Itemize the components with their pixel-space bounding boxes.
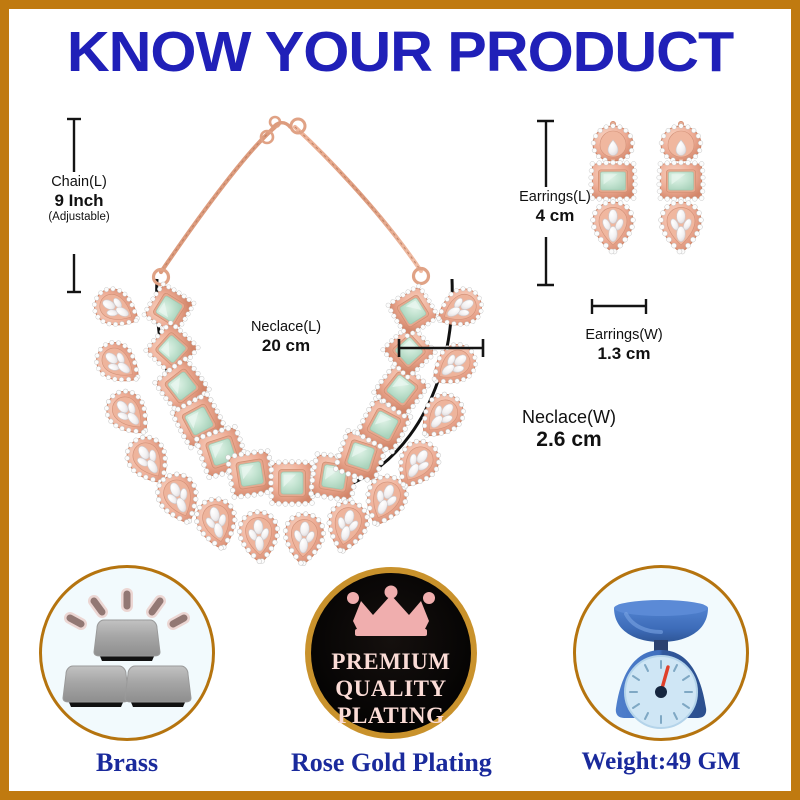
metal-ingots-icon [39,565,215,741]
seal-line-3: PLATING [337,703,444,728]
earrings-width-value: 1.3 cm [555,344,693,364]
earrings-length-annotation: Earrings(L) 4 cm [503,189,607,226]
badge-plating: PREMIUM QUALITY PLATING Rose Gold Platin… [291,565,491,778]
necklace-width-value: 2.6 cm [489,428,649,453]
badge-weight-label: Weight:49 GM [561,748,761,776]
infographic-page: KNOW YOUR PRODUCT [0,0,800,800]
badge-plating-label: Rose Gold Plating [291,748,491,778]
chain-length-note: (Adjustable) [27,211,131,225]
necklace-length-label: Neclace(L) [221,319,351,336]
chain-length-annotation: Chain(L) 9 Inch (Adjustable) [27,174,131,225]
necklace-chain [154,117,429,285]
necklace-width-label: Neclace(W) [489,407,649,428]
necklace-width-annotation: Neclace(W) 2.6 cm [489,407,649,453]
earrings-length-label: Earrings(L) [503,189,607,206]
earring-left [589,121,638,254]
earrings-width-label: Earrings(W) [555,327,693,344]
seal-line-2: QUALITY [335,676,447,701]
seal-line-1: PREMIUM [331,649,450,674]
feature-badges: Brass PREMIUM [9,565,791,791]
earrings-length-value: 4 cm [503,206,607,226]
earrings-width-dimension-line [592,299,646,314]
premium-crown-seal-icon: PREMIUM QUALITY PLATING [303,565,479,741]
badge-material-label: Brass [27,748,227,778]
necklace-length-annotation: Neclace(L) 20 cm [221,319,351,356]
chain-length-value: 9 Inch [27,191,131,211]
earrings-width-annotation: Earrings(W) 1.3 cm [555,327,693,364]
badge-weight: Weight:49 GM [561,565,761,776]
weighing-scale-icon [573,565,749,741]
necklace-length-value: 20 cm [221,336,351,356]
badge-material: Brass [27,565,227,778]
chain-length-label: Chain(L) [27,174,131,191]
earring-right [657,121,706,254]
